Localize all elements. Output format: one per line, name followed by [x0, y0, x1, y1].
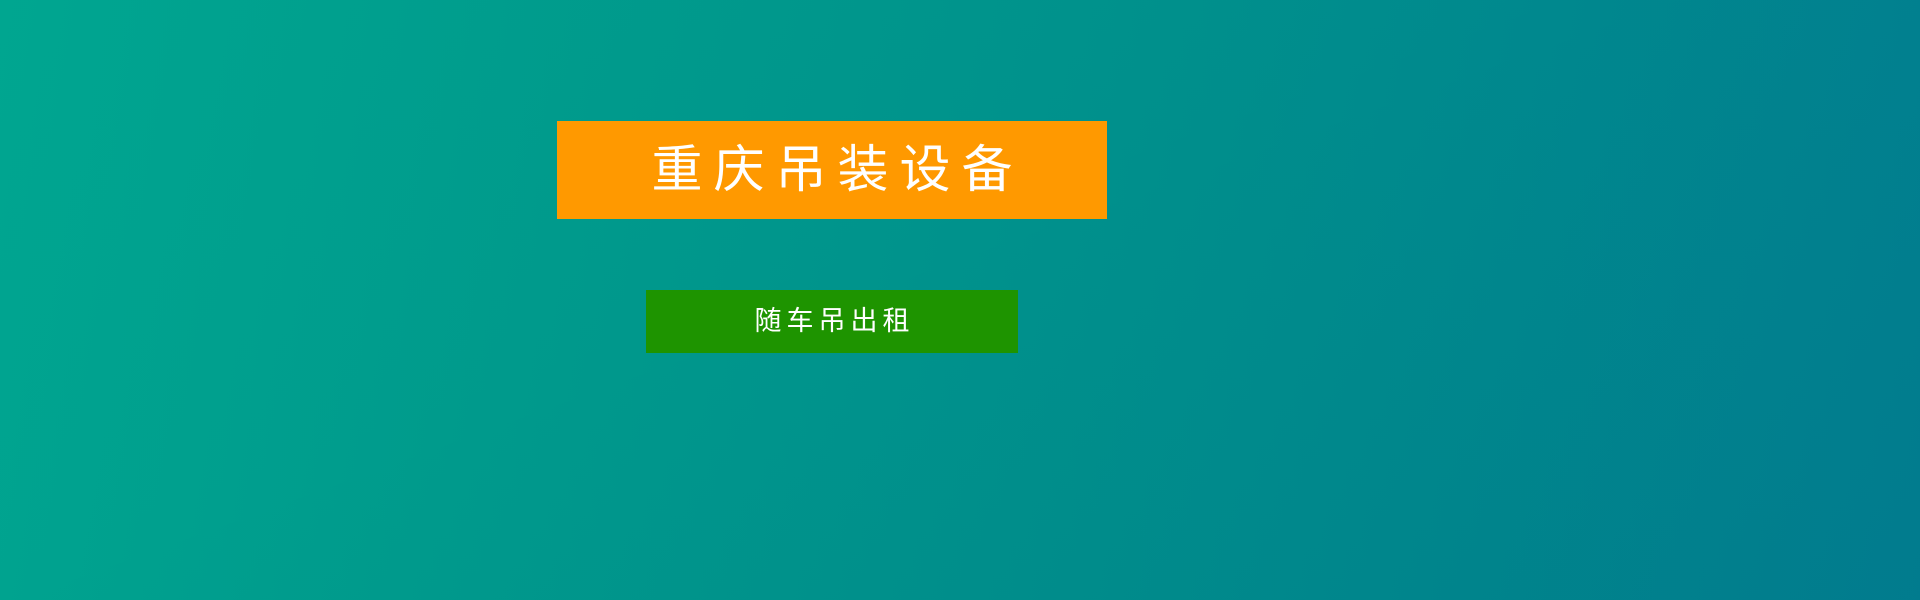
- hero-title-plate: 重庆吊装设备: [557, 121, 1107, 219]
- page-title: 重庆吊装设备: [640, 145, 1023, 196]
- cta-button-label: 随车吊出租: [750, 308, 915, 335]
- hero-content-stack: 重庆吊装设备 随车吊出租: [0, 0, 1920, 600]
- hero-banner: 重庆吊装设备 随车吊出租: [0, 0, 1920, 600]
- cta-rent-truck-crane-button[interactable]: 随车吊出租: [646, 290, 1018, 353]
